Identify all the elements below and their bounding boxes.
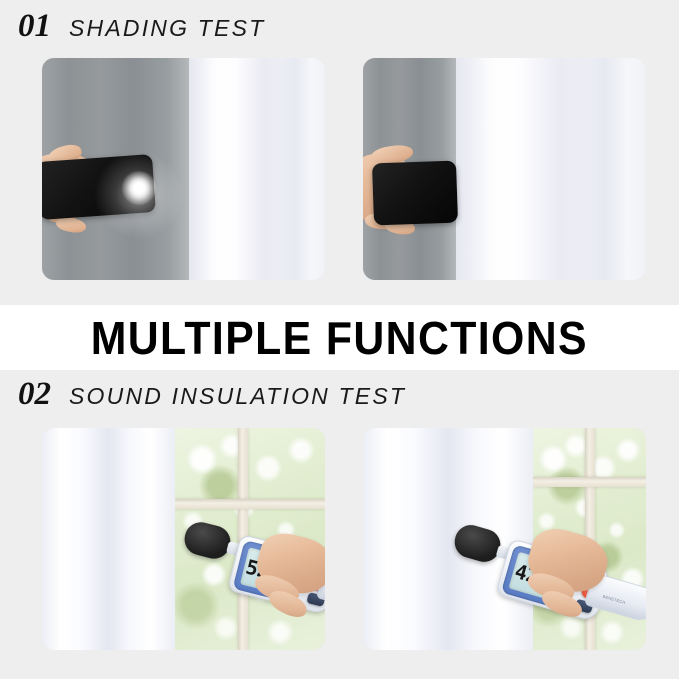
banner-multiple-functions: MULTIPLE FUNCTIONS <box>0 305 679 370</box>
curtain-panel <box>363 428 533 650</box>
curtain-panel-white <box>456 58 646 280</box>
infographic-page: 01 SHADING TEST MULTIPLE F <box>0 0 679 679</box>
banner-title: MULTIPLE FUNCTIONS <box>91 315 588 361</box>
section-01-title: SHADING TEST <box>69 17 265 40</box>
photo-sound-meter-window-open: 52.9 dB BENETECH <box>42 428 325 650</box>
curtain-panel-white <box>189 58 325 280</box>
scene-shading-light-blocked <box>363 58 646 280</box>
window-mullion-horizontal <box>533 477 646 487</box>
section-02-title: SOUND INSULATION TEST <box>69 385 406 408</box>
window-mullion-horizontal <box>175 499 325 509</box>
section-01-number: 01 <box>18 10 51 43</box>
smartphone <box>372 161 458 226</box>
section-02-number: 02 <box>18 378 51 411</box>
scene-shading-light-on <box>42 58 325 280</box>
scene-sound-window-open: 52.9 dB BENETECH <box>42 428 325 650</box>
flashlight-beam <box>122 171 156 205</box>
photo-sound-meter-behind-curtain: 42.2 dB BENETECH <box>363 428 646 650</box>
photo-shading-light-on <box>42 58 325 280</box>
photo-shading-light-blocked <box>363 58 646 280</box>
section-01-heading: 01 SHADING TEST <box>18 10 265 43</box>
scene-sound-behind-curtain: 42.2 dB BENETECH <box>363 428 646 650</box>
curtain-panel <box>42 428 175 650</box>
section-02-heading: 02 SOUND INSULATION TEST <box>18 378 406 411</box>
